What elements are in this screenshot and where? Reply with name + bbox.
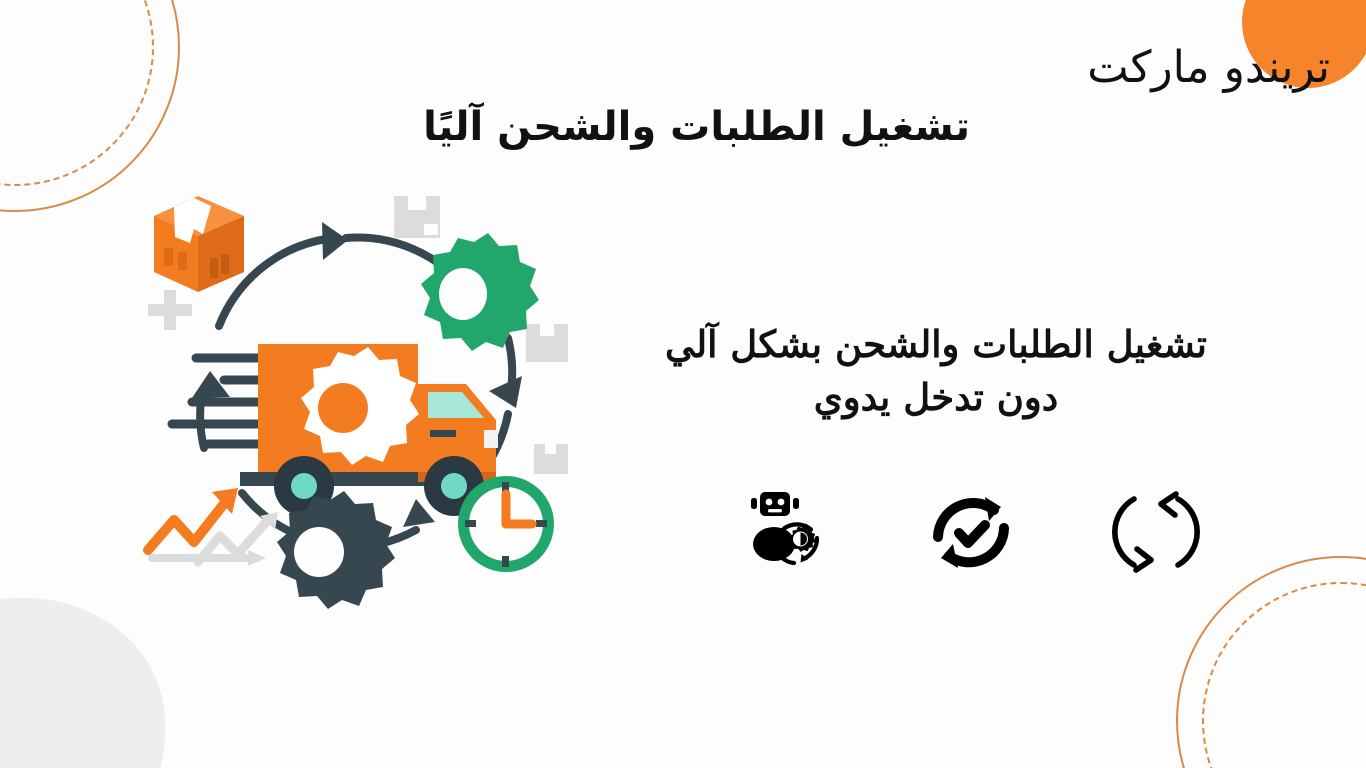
decor-ring-solid [0,0,180,212]
corner-rings-bottom-right [1176,556,1366,768]
package-box [154,196,244,292]
body-copy: تشغيل الطلبات والشحن بشكل آلي دون تدخل ي… [566,318,1306,423]
growth-chart-arrow [148,488,278,566]
slide-canvas: تريندو ماركت تشغيل الطلبات والشحن آليًا … [0,0,1366,768]
gray-blob-bottom-left [0,598,165,768]
sync-check-icon [921,482,1021,582]
automated-shipping-illustration [136,186,596,616]
brand-title: تريندو ماركت [1087,42,1330,93]
decor-ring-dashed [0,0,154,186]
page-title: تشغيل الطلبات والشحن آليًا [423,104,970,150]
body-copy-line-2: دون تدخل يدوي [566,371,1306,424]
robot-automation-icon [736,482,836,582]
decor-ring-dashed [1202,582,1366,768]
decor-ring-solid [1176,556,1366,768]
feature-icon-row [736,482,1206,582]
green-gear [421,233,539,351]
corner-rings-top-left [0,0,180,212]
refresh-cycle-icon [1106,482,1206,582]
body-copy-line-1: تشغيل الطلبات والشحن بشكل آلي [566,318,1306,371]
clock [458,476,554,572]
